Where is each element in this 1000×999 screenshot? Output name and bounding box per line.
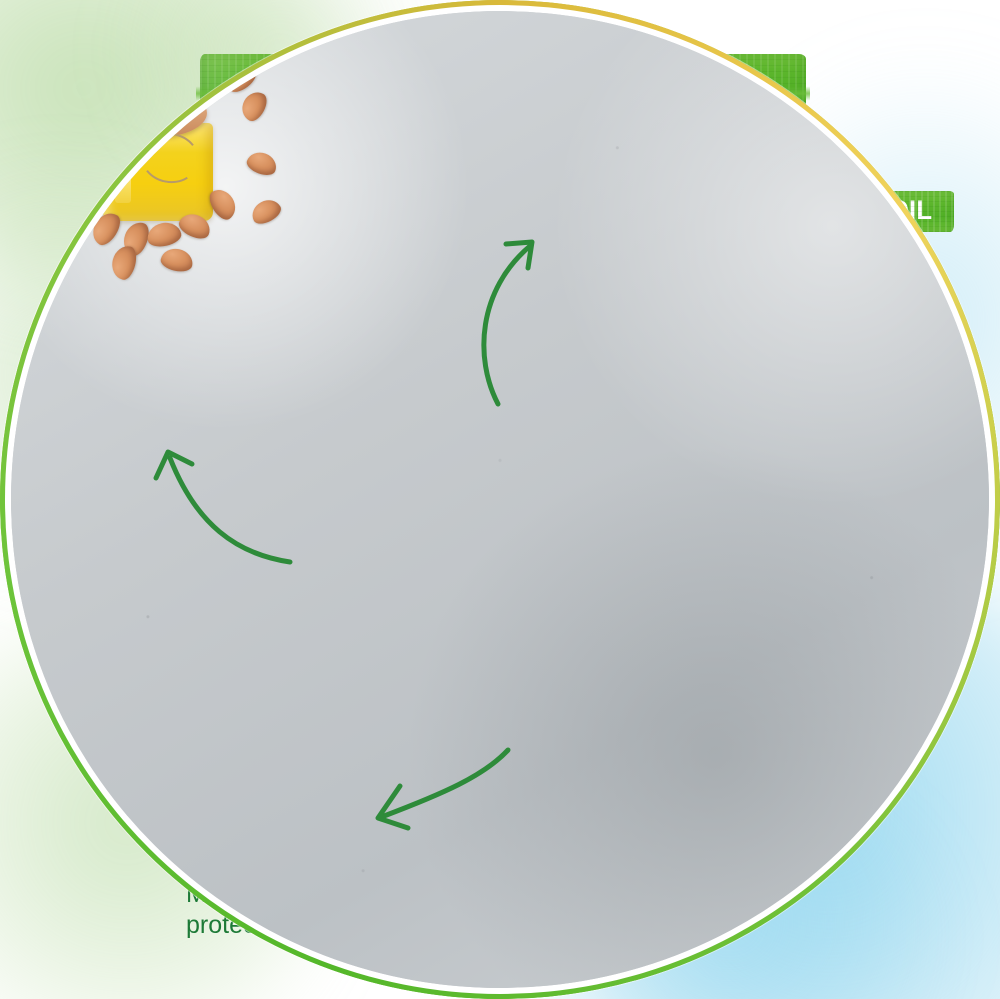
oil-jar-lid <box>111 89 207 137</box>
image-circle-almond-oil <box>0 544 288 832</box>
infographic-canvas: HERO INGREDIENTS COLD PRESSED ALMOND OIL… <box>0 0 1000 999</box>
photo-almond-oil <box>11 11 989 988</box>
oil-jar-highlight <box>115 137 131 203</box>
